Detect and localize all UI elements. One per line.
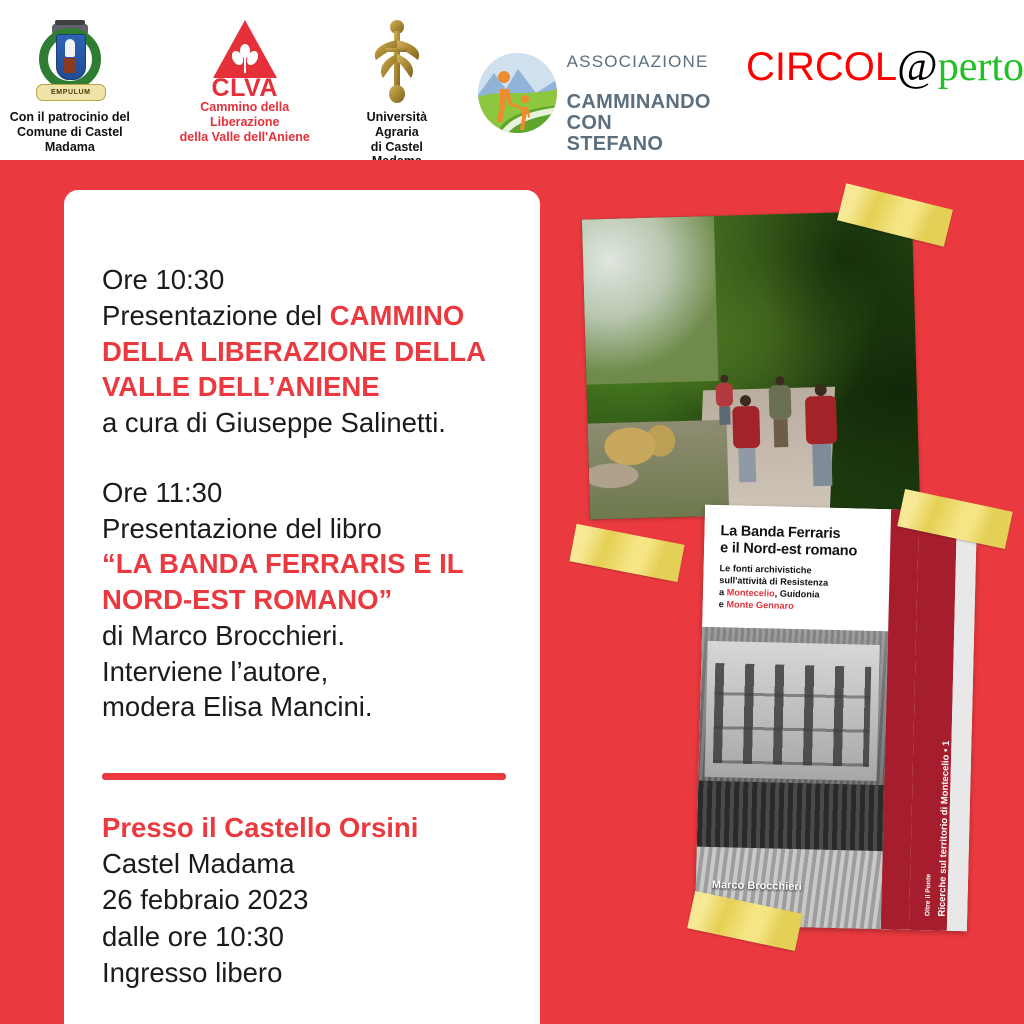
clva-flower-icon (232, 44, 258, 74)
hiker-figure (715, 375, 733, 425)
hikers-photo (582, 210, 920, 519)
logo-clva: CLVA Cammino della Liberazione della Val… (174, 18, 316, 144)
session-2-author: di Marco Brocchieri. (102, 618, 506, 654)
venue-info: Presso il Castello Orsini Castel Madama … (102, 810, 506, 992)
book-cover-photo: Marco Brocchieri (695, 627, 888, 929)
comune-crest-icon: EMPULUM (31, 18, 109, 106)
camminando-line1: ASSOCIAZIONE (567, 53, 712, 71)
sponsor-logo-strip: EMPULUM Con il patrocinio del Comune di … (0, 0, 1024, 160)
venue-town: Castel Madama (102, 846, 506, 883)
logo-universita-agraria: Università Agraria di Castel Madama (350, 18, 444, 169)
logo-circolaperto: CIRCOL @ perto (746, 18, 1024, 88)
hiker-figure (804, 384, 838, 487)
circolaperto-wordmark: CIRCOL @ perto (746, 44, 1024, 88)
logo-caption-clva: Cammino della Liberazione della Valle de… (174, 100, 316, 144)
agraria-wheat-icon (358, 18, 436, 106)
clva-acronym: CLVA (199, 74, 291, 103)
crest-motto: EMPULUM (36, 84, 106, 101)
venue-start-time: dalle ore 10:30 (102, 919, 506, 956)
session-1: Ore 10:30 Presentazione del CAMMINO DELL… (102, 262, 506, 441)
circolaperto-part2: perto (938, 46, 1024, 88)
book-title: La Banda Ferraris e il Nord-est romano (720, 523, 879, 560)
camminando-line2: CAMMINANDO CON STEFANO (567, 91, 711, 155)
book-subtitle: Le fonti archivistiche sull'attività di … (719, 563, 878, 614)
event-poster: EMPULUM Con il patrocinio del Comune di … (0, 0, 1024, 1024)
venue-title: Presso il Castello Orsini (102, 810, 506, 846)
session-2-lead: Presentazione del libro (102, 511, 506, 547)
hiker-figure (732, 395, 761, 483)
book-subtitle-line4: e Monte Gennaro (719, 599, 877, 615)
venue-entry: Ingresso libero (102, 955, 506, 992)
session-2-speaker: Interviene l’autore, (102, 654, 506, 690)
hiker-figure (768, 376, 792, 448)
book-cover: Marco Brocchieri La Banda Ferraris e il … (695, 505, 977, 932)
session-2-highlight: “LA BANDA FERRARIS E IL NORD-EST ROMANO” (102, 546, 506, 618)
camminando-scene-icon (478, 53, 557, 133)
circolaperto-part1: CIRCOL (746, 47, 897, 87)
logo-camminando-con-stefano: ASSOCIAZIONE CAMMINANDO CON STEFANO (478, 18, 712, 155)
session-1-curator: a cura di Giuseppe Salinetti. (102, 405, 506, 441)
clva-triangle-icon: CLVA (199, 18, 291, 96)
agraria-emblem-icon (358, 18, 436, 106)
venue-date: 26 febbraio 2023 (102, 882, 506, 919)
camminando-circle-icon (478, 53, 557, 133)
logo-comune-castel-madama: EMPULUM Con il patrocinio del Comune di … (0, 18, 140, 154)
session-1-lead: Presentazione del (102, 300, 330, 331)
book-spine-series: Oltre il Ponte (924, 874, 932, 916)
logo-caption-comune: Con il patrocinio del Comune di Castel M… (0, 110, 140, 154)
at-sign-icon: @ (897, 44, 938, 88)
session-1-body: Presentazione del CAMMINO DELLA LIBERAZI… (102, 298, 506, 405)
info-card: Ore 10:30 Presentazione del CAMMINO DELL… (64, 190, 540, 1024)
session-1-time: Ore 10:30 (102, 262, 506, 298)
session-2: Ore 11:30 Presentazione del libro “LA BA… (102, 475, 506, 725)
section-divider (102, 773, 506, 780)
book-spine-title: Ricerche sul territorio di Montecelio • … (936, 741, 951, 917)
book-author: Marco Brocchieri (712, 879, 802, 893)
session-2-moderator: modera Elisa Mancini. (102, 689, 506, 725)
session-2-time: Ore 11:30 (102, 475, 506, 511)
camminando-wordmark: ASSOCIAZIONE CAMMINANDO CON STEFANO (567, 32, 712, 155)
